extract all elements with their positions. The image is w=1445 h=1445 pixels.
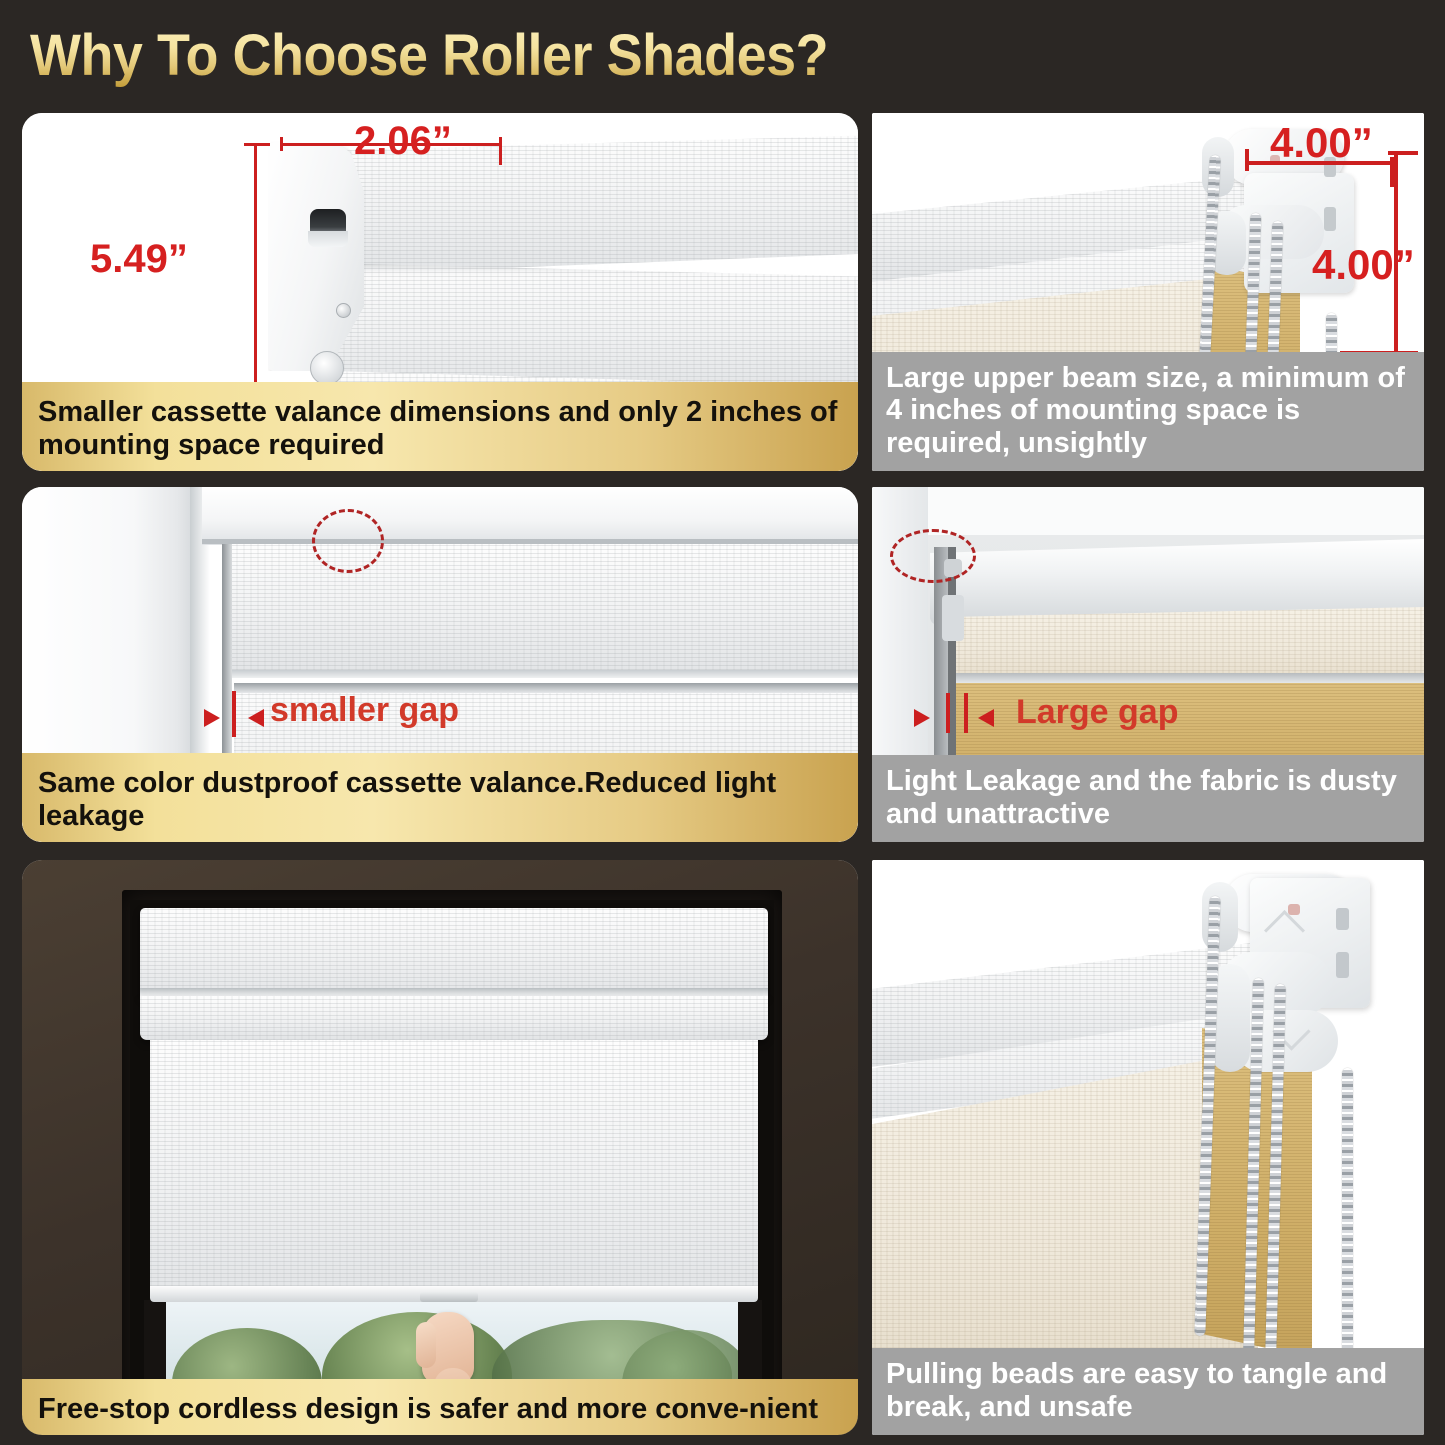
caption-cassette-valance-dimensions: Smaller cassette valance dimensions and … [22, 382, 858, 471]
gap-highlight-circle-icon [312, 509, 384, 573]
large-gap-label: Large gap [1016, 693, 1178, 732]
comparison-grid: 2.06” 5.49” Smaller cassette valance dim… [0, 0, 1445, 1445]
gap-marker-line [232, 691, 236, 737]
panel-light-leakage-dusty-fabric: Large gap Light Leakage and the fabric i… [872, 487, 1424, 842]
height-dim-tick-top [244, 143, 270, 146]
caption-free-stop-cordless-design: Free-stop cordless design is safer and m… [22, 1379, 858, 1435]
width-dim-tick-right [499, 137, 502, 165]
bead-chain-icon [1342, 1068, 1353, 1358]
gap-arrow-right-icon [204, 709, 220, 727]
gap-marker-line-a [946, 693, 950, 733]
panel-large-upper-beam: 4.00” 4.00” Large upper beam size, a min… [872, 113, 1424, 471]
beam-depth-tick-top [1388, 151, 1418, 155]
panel-cassette-valance-dimensions: 2.06” 5.49” Smaller cassette valance dim… [22, 113, 858, 471]
beam-width-tick-left [1245, 149, 1249, 171]
caption-light-leakage-dusty-fabric: Light Leakage and the fabric is dusty an… [872, 755, 1424, 842]
width-dimension-label: 2.06” [354, 119, 452, 164]
panel-pulling-beads-unsafe: Pulling beads are easy to tangle and bre… [872, 860, 1424, 1435]
width-dim-tick-left [280, 137, 283, 151]
smaller-gap-label: smaller gap [270, 691, 459, 730]
gap-arrow-right-icon [914, 709, 930, 727]
gap-highlight-circle-icon [890, 529, 976, 583]
cordless-shade-room-photo [22, 860, 858, 1435]
panel-dustproof-cassette-valance: smaller gap Same color dustproof cassett… [22, 487, 858, 842]
height-dimension-line [254, 143, 257, 401]
caption-pulling-beads-unsafe: Pulling beads are easy to tangle and bre… [872, 1348, 1424, 1435]
gap-arrow-left-icon [248, 709, 264, 727]
height-dimension-label: 5.49” [90, 237, 188, 282]
caption-large-upper-beam: Large upper beam size, a minimum of 4 in… [872, 352, 1424, 471]
beam-width-label: 4.00” [1270, 119, 1373, 167]
beam-depth-label: 4.00” [1312, 241, 1415, 289]
gap-arrow-left-icon [978, 709, 994, 727]
caption-dustproof-cassette-valance: Same color dustproof cassette valance.Re… [22, 753, 858, 842]
gap-marker-line-b [964, 693, 968, 733]
panel-free-stop-cordless-design: Free-stop cordless design is safer and m… [22, 860, 858, 1435]
